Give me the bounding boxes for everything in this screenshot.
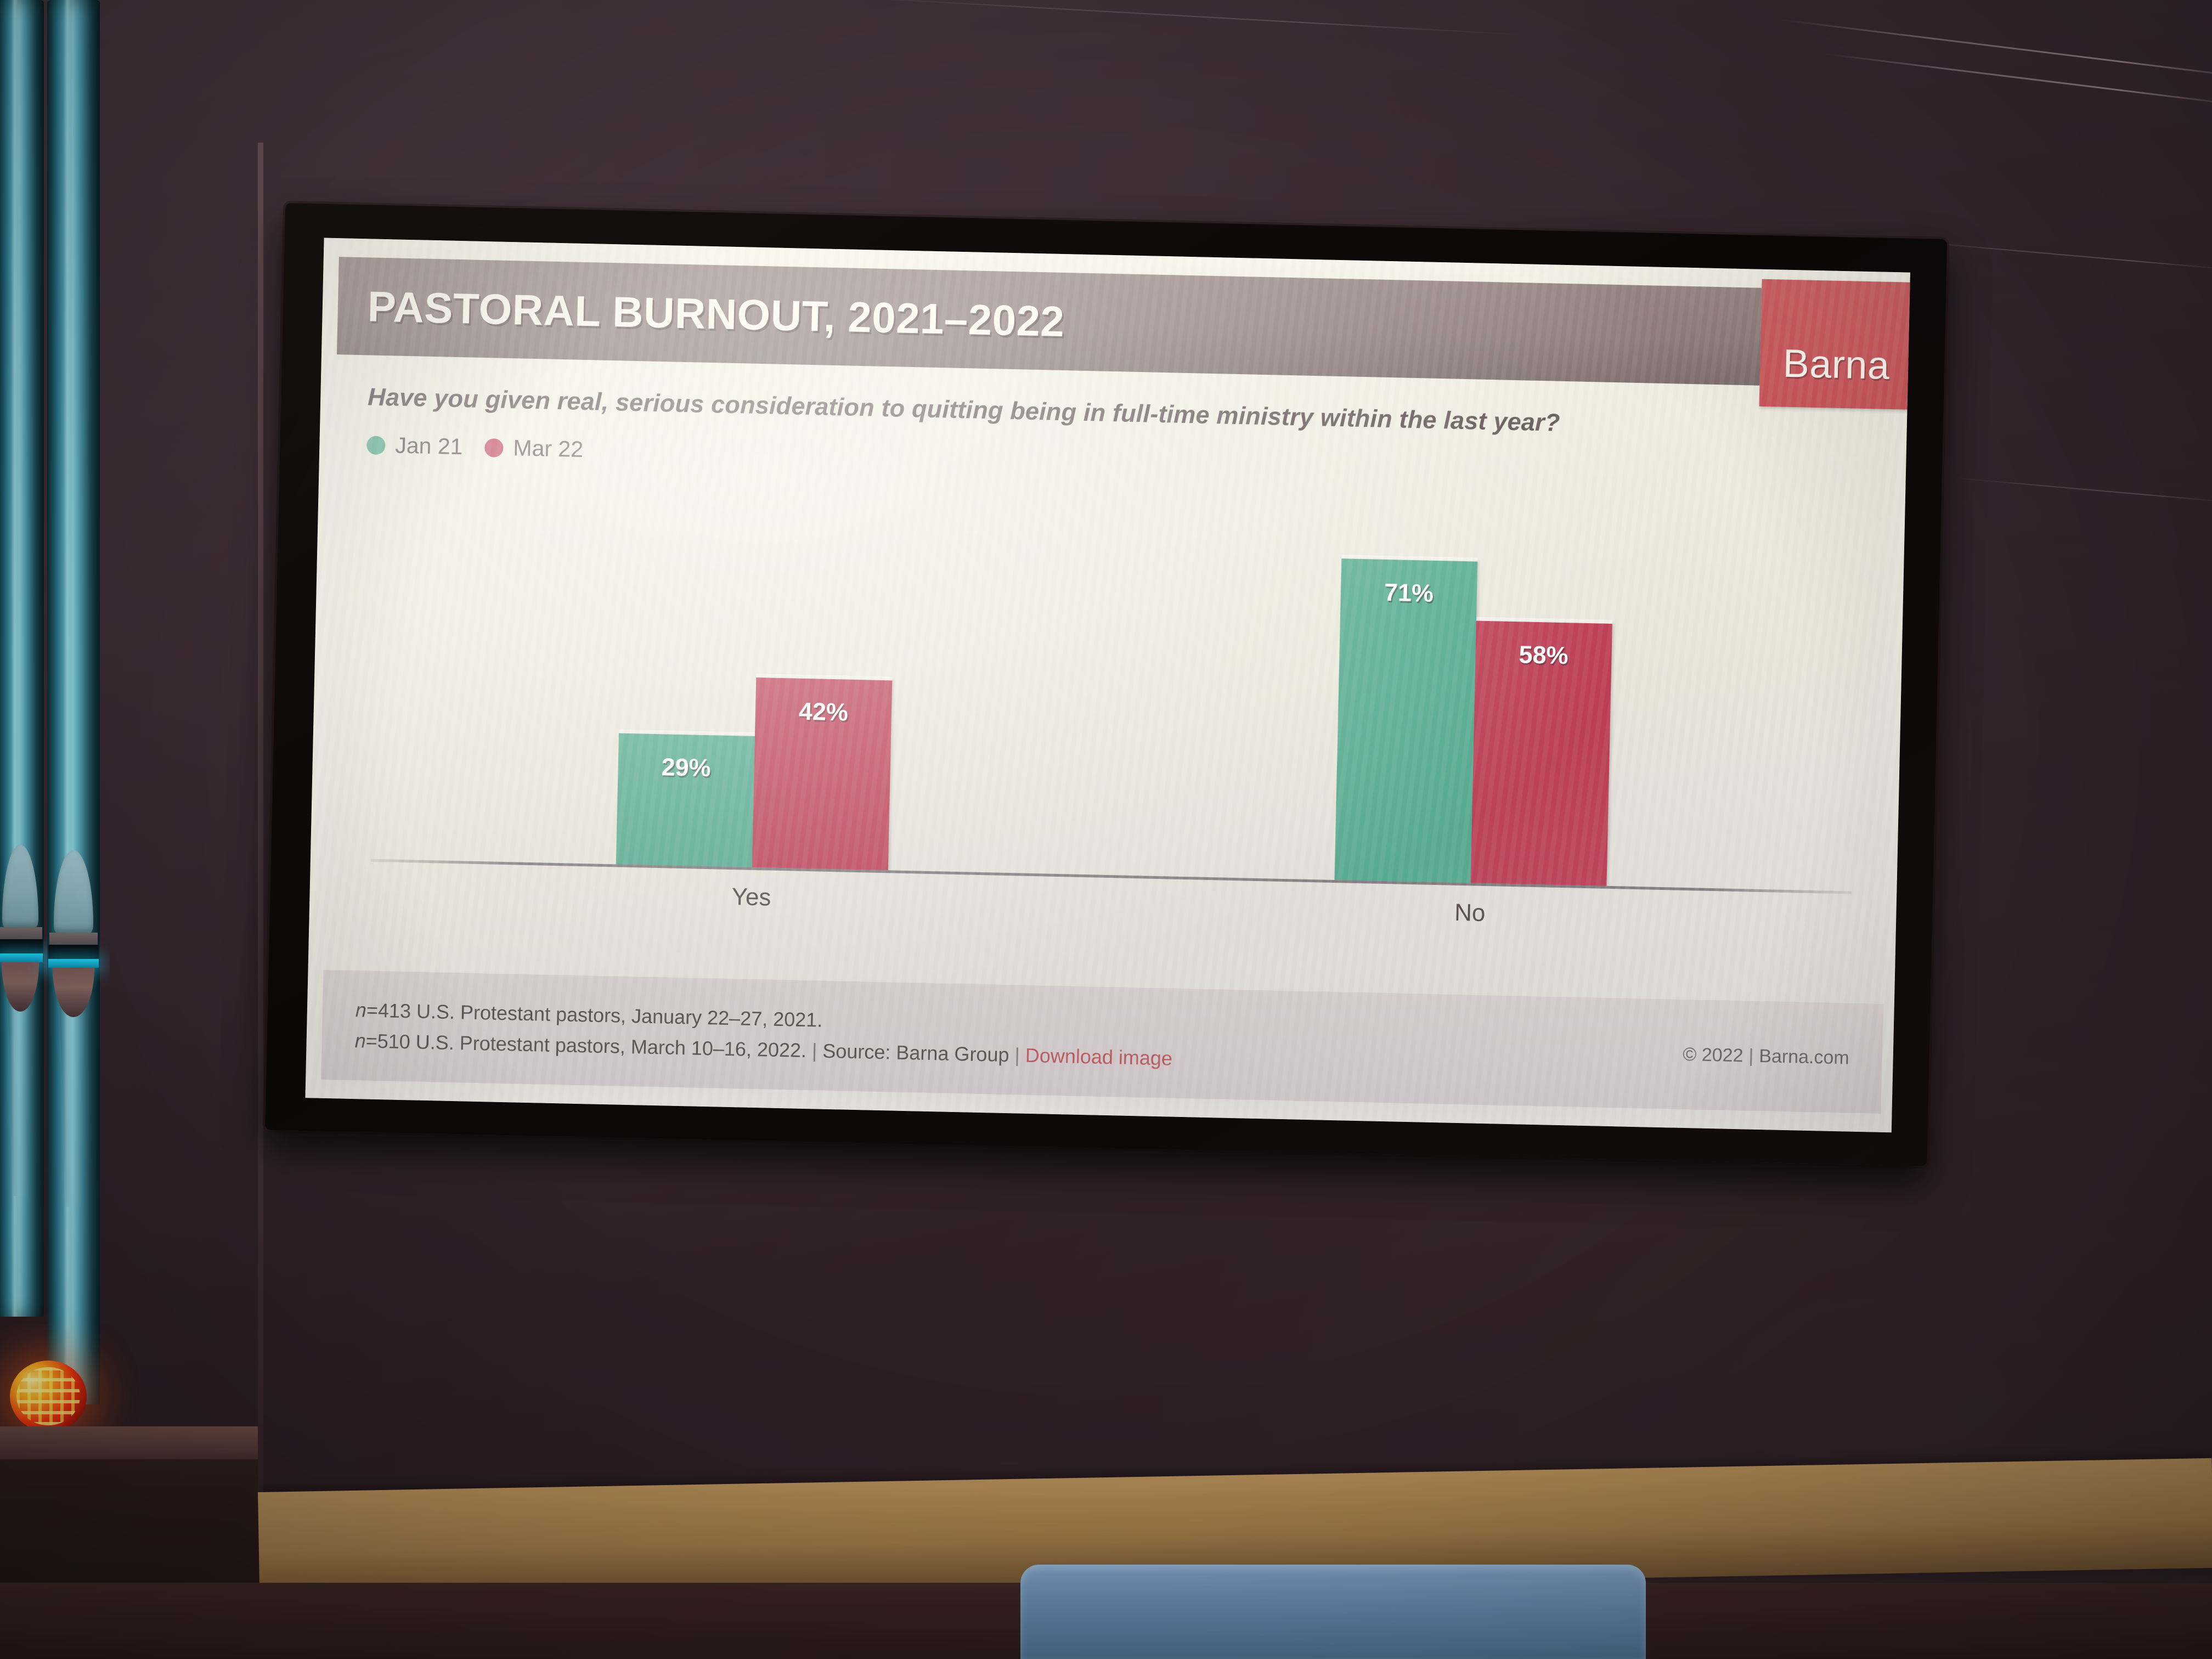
footnote-n-italic: n [354, 1029, 366, 1052]
download-image-link[interactable]: Download image [1025, 1044, 1172, 1070]
legend-swatch-icon [484, 438, 504, 458]
pipe-foot [53, 968, 95, 1017]
legend-label: Mar 22 [513, 435, 584, 462]
separator: | [806, 1039, 823, 1062]
source-text: Source: Barna Group [822, 1040, 1009, 1066]
copyright-block: © 2022|Barna.com [1683, 1043, 1849, 1069]
pipe-glow [48, 959, 99, 968]
pipe-mouth [47, 850, 100, 1015]
chair-back [1020, 1565, 1646, 1659]
pipe-lip [0, 927, 42, 939]
bar-top-highlight [1341, 555, 1477, 561]
bar-top-highlight [1476, 617, 1612, 623]
separator: | [1743, 1045, 1759, 1066]
chart-legend: Jan 21 Mar 22 [366, 432, 584, 462]
separator: | [1009, 1043, 1025, 1066]
slide-title-bar: PASTORAL BURNOUT, 2021–2022 [337, 257, 1762, 386]
bar-group-yes: 29% 42% [393, 498, 1119, 875]
bar-value-label: 42% [755, 696, 891, 727]
pipe-arch [2, 845, 38, 927]
copyright-year: © 2022 [1683, 1043, 1743, 1065]
page-title: PASTORAL BURNOUT, 2021–2022 [367, 281, 1065, 347]
x-tick-label-yes: Yes [392, 876, 1111, 919]
wall-panel-edge [258, 143, 263, 1503]
pipe-lip [49, 933, 98, 945]
barna-logo: Barna [1759, 279, 1910, 410]
bar-group-no: 71% 58% [1111, 513, 1838, 890]
barna-logo-text: Barna [1782, 341, 1890, 388]
bar-groups: 29% 42% 71% [393, 498, 1838, 891]
bar-no-mar22[interactable]: 58% [1470, 620, 1612, 886]
footnote-n-italic: n [355, 998, 366, 1021]
pipe-glow [0, 953, 43, 962]
footnote-line-1-text: =413 U.S. Protestant pastors, January 22… [366, 999, 823, 1031]
presentation-slide: PASTORAL BURNOUT, 2021–2022 Barna Have y… [305, 238, 1910, 1133]
pipe-mouth [0, 845, 44, 1009]
barna-domain[interactable]: Barna.com [1759, 1045, 1849, 1068]
bar-no-jan21[interactable]: 71% [1335, 558, 1478, 883]
bar-top-highlight [619, 729, 755, 736]
legend-item-mar-22[interactable]: Mar 22 [484, 435, 584, 462]
organ-pipe [0, 0, 44, 1317]
projection-screen: PASTORAL BURNOUT, 2021–2022 Barna Have y… [265, 203, 1947, 1166]
pipe-slot [0, 939, 43, 953]
pipe-organ [0, 0, 110, 1448]
lamp-grid [16, 1367, 80, 1425]
x-tick-label-no: No [1110, 891, 1830, 935]
bar-top-highlight [756, 673, 892, 680]
red-lamp-icon [10, 1361, 87, 1432]
slide-footer: n=413 U.S. Protestant pastors, January 2… [321, 970, 1883, 1114]
bar-value-label: 29% [618, 752, 754, 783]
bar-value-label: 58% [1475, 639, 1612, 670]
legend-item-jan-21[interactable]: Jan 21 [366, 432, 463, 460]
legend-label: Jan 21 [395, 432, 463, 460]
bar-value-label: 71% [1340, 577, 1477, 608]
footnote-block: n=413 U.S. Protestant pastors, January 2… [354, 995, 1173, 1074]
legend-swatch-icon [366, 436, 386, 455]
bar-yes-jan21[interactable]: 29% [616, 733, 755, 867]
pipe-arch [54, 850, 94, 933]
bar-yes-mar22[interactable]: 42% [752, 677, 892, 870]
pipe-foot [2, 962, 39, 1012]
footnote-line-2-text: =510 U.S. Protestant pastors, March 10–1… [365, 1030, 806, 1062]
photo-scene: PASTORAL BURNOUT, 2021–2022 Barna Have y… [0, 0, 2212, 1659]
survey-question: Have you given real, serious considerati… [368, 382, 1773, 442]
pipe-slot [48, 945, 99, 959]
bar-chart-plot: 29% 42% 71% [393, 498, 1838, 891]
organ-pipe [47, 0, 100, 1404]
